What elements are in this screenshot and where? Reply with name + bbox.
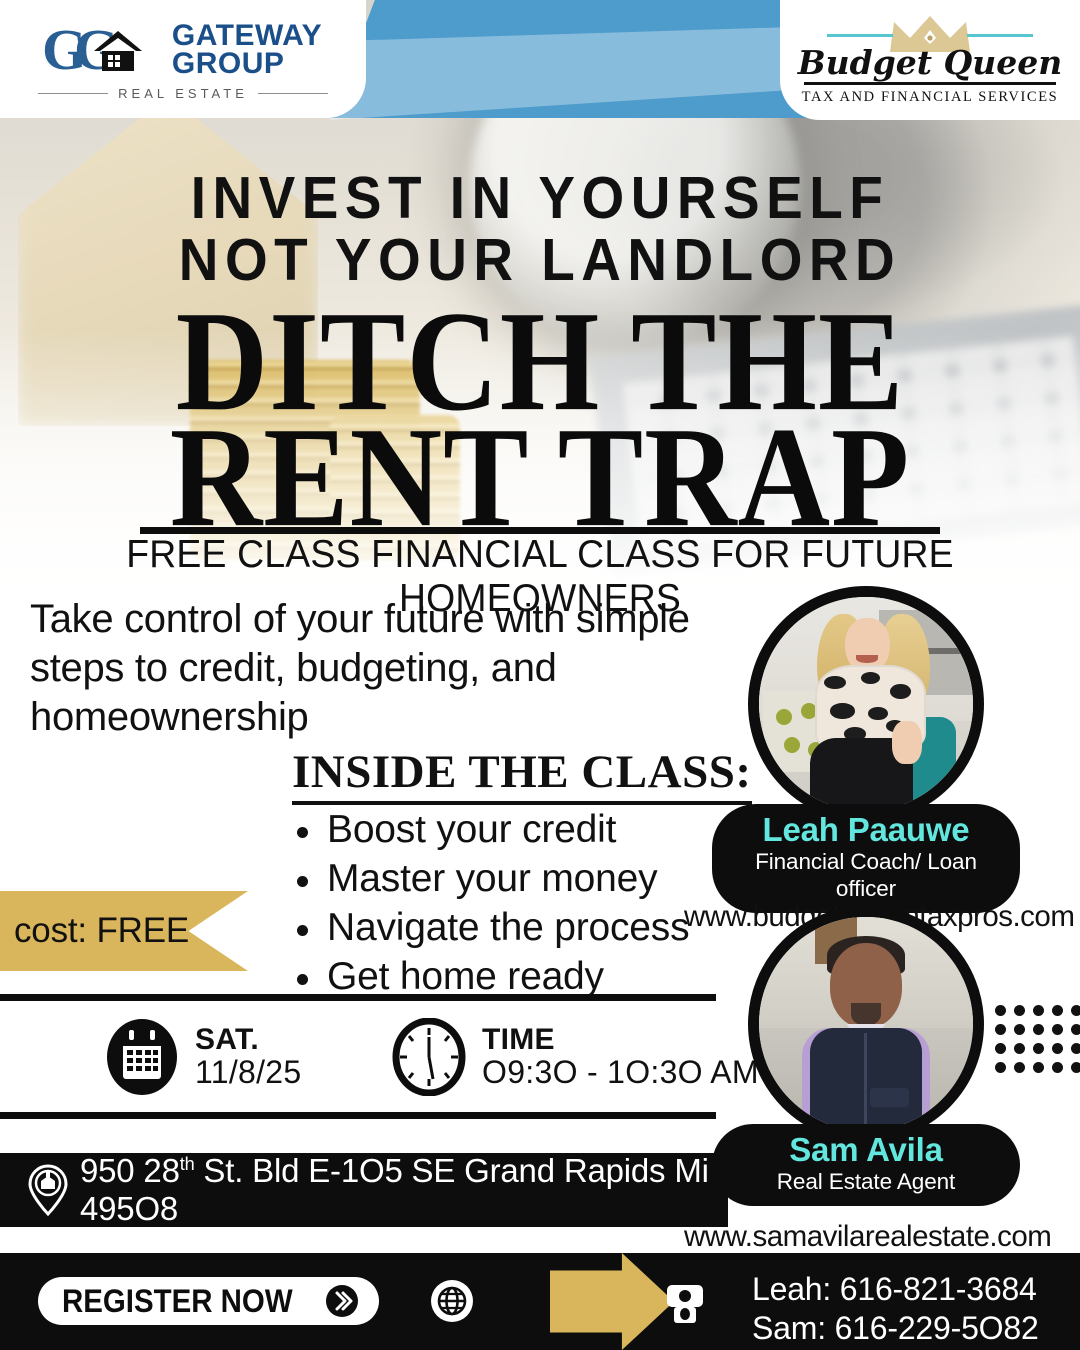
- leah-portrait: [759, 597, 973, 811]
- class-topics-list: Boost your credit Master your money Navi…: [292, 805, 689, 1002]
- register-now-label: REGISTER NOW: [62, 1283, 293, 1320]
- budget-queen-tagline: TAX AND FINANCIAL SERVICES: [802, 89, 1059, 106]
- event-day-label: SAT.: [195, 1024, 302, 1056]
- speaker-role: Real Estate Agent: [722, 1168, 1010, 1195]
- speaker-role: Financial Coach/ Loan officer: [722, 848, 1010, 902]
- budget-queen-underline: [804, 82, 1056, 85]
- gateway-group-logo: G G GATEWAY GROUP REAL ESTATE: [0, 0, 366, 118]
- avatar: [748, 906, 984, 1142]
- divider-above-datetime: [0, 994, 716, 1001]
- gateway-tagline: REAL ESTATE: [118, 86, 248, 101]
- kicker-line-1: INVEST IN YOURSELF: [38, 168, 1042, 228]
- address-ordinal: th: [180, 1154, 195, 1174]
- event-date-value: 11/8/25: [195, 1056, 302, 1090]
- rule-left: [38, 93, 108, 94]
- speaker-name: Sam Avila: [722, 1132, 1010, 1168]
- gateway-gg-house-icon: G G: [44, 21, 164, 79]
- sam-portrait: [759, 917, 973, 1131]
- title-line-2: RENT TRAP: [0, 412, 1080, 544]
- event-time-value: O9:3O - 1O:3O AM: [482, 1056, 759, 1090]
- chevron-right-circle-icon: [325, 1284, 359, 1318]
- gateway-name-line2: GROUP: [172, 50, 322, 78]
- phone-leah: Leah: 616-821-3684: [752, 1270, 1039, 1309]
- calendar-icon: [105, 1018, 179, 1096]
- event-time-label: TIME: [482, 1024, 759, 1056]
- rule-right: [258, 93, 328, 94]
- event-address-text: 950 28th St. Bld E-1O5 SE Grand Rapids M…: [80, 1152, 728, 1228]
- list-item: Boost your credit: [292, 805, 689, 854]
- gateway-tagline-row: REAL ESTATE: [38, 86, 328, 101]
- avatar: [748, 586, 984, 822]
- globe-icon[interactable]: [430, 1279, 474, 1323]
- phone-sam: Sam: 616-229-5O82: [752, 1309, 1039, 1348]
- gateway-name-line1: GATEWAY: [172, 22, 322, 50]
- contact-phone-numbers: Leah: 616-821-3684 Sam: 616-229-5O82: [752, 1270, 1039, 1348]
- speaker-card-leah: Leah Paauwe Financial Coach/ Loan office…: [748, 586, 984, 822]
- event-address-bar: 950 28th St. Bld E-1O5 SE Grand Rapids M…: [0, 1153, 728, 1227]
- gateway-logo-lockup: G G GATEWAY GROUP: [44, 21, 322, 79]
- event-time-text: TIME O9:3O - 1O:3O AM: [482, 1024, 759, 1090]
- register-now-button[interactable]: REGISTER NOW: [38, 1277, 379, 1325]
- address-number: 950 28: [80, 1152, 180, 1189]
- intro-paragraph: Take control of your future with simple …: [30, 595, 730, 741]
- cost-label: cost: FREE: [0, 911, 189, 951]
- event-flyer: G G GATEWAY GROUP REAL ESTATE: [0, 0, 1080, 1350]
- budget-queen-logo: Budget Queen TAX AND FINANCIAL SERVICES: [780, 0, 1080, 120]
- speaker-name-badge: Leah Paauwe Financial Coach/ Loan office…: [712, 804, 1020, 913]
- speaker-card-sam: Sam Avila Real Estate Agent www.samavila…: [748, 906, 984, 1142]
- inside-the-class-heading: INSIDE THE CLASS:: [292, 745, 752, 805]
- location-pin-icon: [28, 1164, 68, 1216]
- clock-icon: [392, 1018, 466, 1096]
- speaker-name: Leah Paauwe: [722, 812, 1010, 848]
- gateway-wordmark: GATEWAY GROUP: [172, 22, 322, 78]
- speaker-website[interactable]: www.samavilarealestate.com: [684, 1220, 1048, 1254]
- event-date-text: SAT. 11/8/25: [195, 1024, 302, 1090]
- list-item: Master your money: [292, 854, 689, 903]
- budget-queen-script: Budget Queen: [798, 46, 1062, 79]
- cost-ribbon: cost: FREE: [0, 891, 248, 971]
- event-time-block: TIME O9:3O - 1O:3O AM: [392, 1018, 759, 1096]
- divider-below-datetime: [0, 1112, 716, 1119]
- event-date-block: SAT. 11/8/25: [105, 1018, 302, 1096]
- telephone-icon[interactable]: [663, 1279, 707, 1325]
- speaker-name-badge: Sam Avila Real Estate Agent: [712, 1124, 1020, 1206]
- dot-grid-decoration: [995, 1005, 1080, 1075]
- crown-dashes: [805, 32, 1055, 38]
- list-item: Navigate the process: [292, 903, 689, 952]
